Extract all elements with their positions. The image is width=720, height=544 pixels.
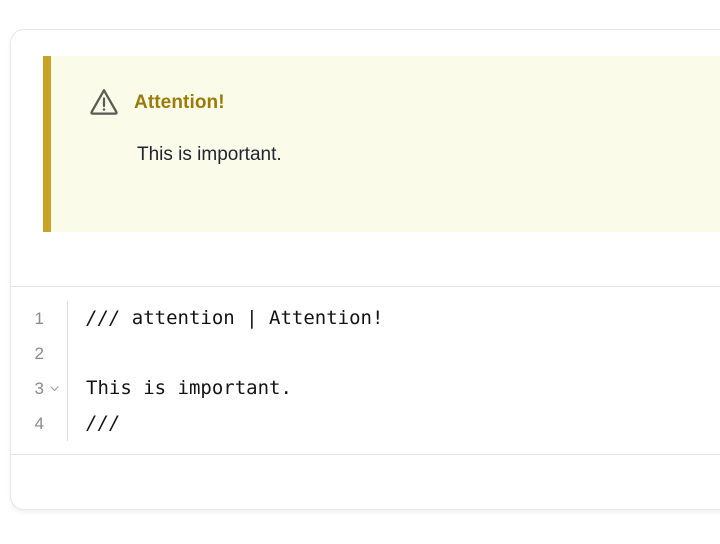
line-number: 2 bbox=[35, 345, 44, 362]
warning-triangle-icon bbox=[88, 86, 120, 118]
gutter-row: 1 bbox=[11, 301, 67, 336]
fold-spacer bbox=[49, 313, 60, 324]
code-line-text: attention | Attention! bbox=[120, 309, 383, 328]
line-number: 3 bbox=[35, 380, 44, 397]
code-line[interactable] bbox=[86, 336, 720, 371]
callout-body: This is important. bbox=[51, 118, 720, 168]
preview-pane: Attention! This is important. bbox=[11, 30, 720, 287]
code-line[interactable]: /// attention | Attention! bbox=[86, 301, 720, 336]
fold-spacer bbox=[49, 348, 60, 359]
editor-code-lines[interactable]: /// attention | Attention! This is impor… bbox=[68, 301, 720, 441]
code-line[interactable]: /// bbox=[86, 406, 720, 441]
code-line-text: This is important. bbox=[86, 379, 292, 398]
callout-title-row: Attention! bbox=[51, 56, 720, 118]
gutter-row: 4 bbox=[11, 406, 67, 441]
code-editor[interactable]: 1 2 3 4 bbox=[11, 287, 720, 455]
fold-spacer bbox=[49, 418, 60, 429]
gutter-row: 3 bbox=[11, 371, 67, 406]
line-number: 1 bbox=[35, 310, 44, 327]
card-footer bbox=[11, 455, 720, 508]
code-editor-inner: 1 2 3 4 bbox=[11, 287, 720, 441]
editor-gutter: 1 2 3 4 bbox=[11, 301, 68, 441]
attention-callout: Attention! This is important. bbox=[43, 56, 720, 232]
example-card: Attention! This is important. 1 2 3 bbox=[10, 29, 720, 510]
callout-title: Attention! bbox=[134, 93, 225, 112]
line-number: 4 bbox=[35, 415, 44, 432]
code-line[interactable]: This is important. bbox=[86, 371, 720, 406]
code-fence-token: /// bbox=[86, 309, 120, 328]
gutter-row: 2 bbox=[11, 336, 67, 371]
code-fence-token: /// bbox=[86, 414, 120, 433]
chevron-down-icon[interactable] bbox=[49, 383, 60, 394]
